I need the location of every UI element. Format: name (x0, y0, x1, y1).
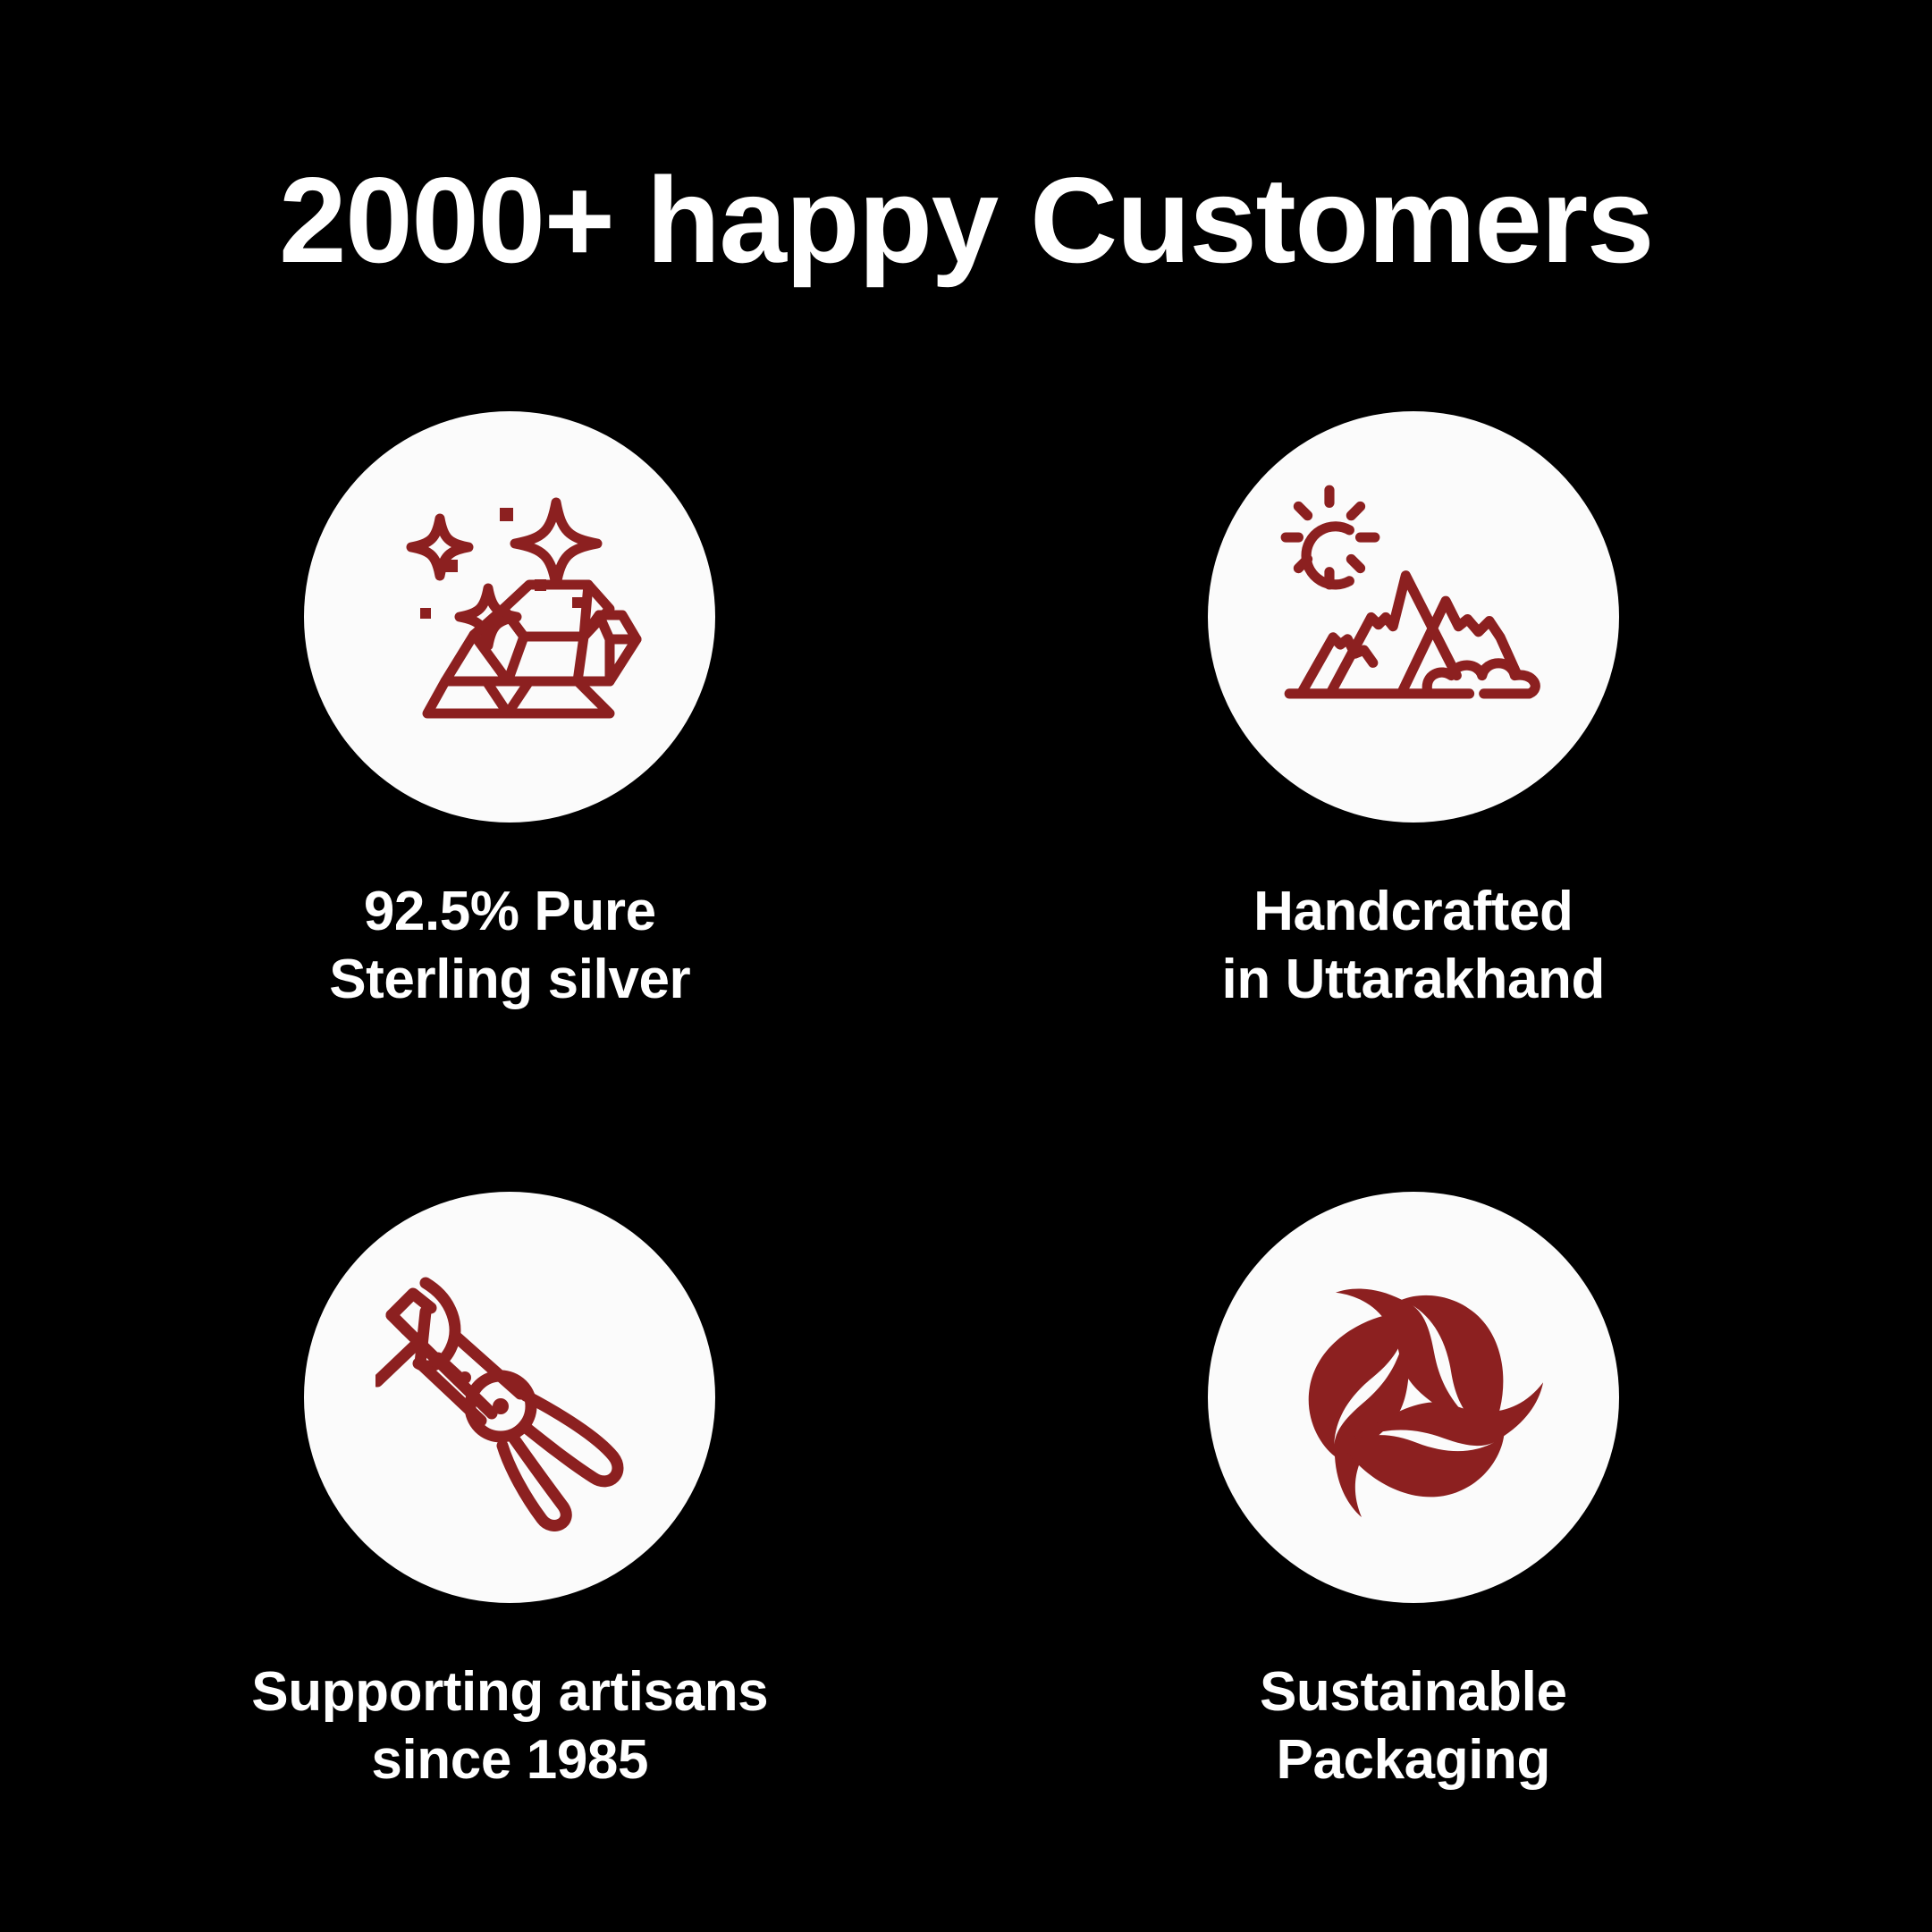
silver-bars-icon (375, 483, 644, 751)
feature-icon-badge (1208, 1192, 1619, 1603)
feature-grid: 92.5% Pure Sterling silver (0, 411, 1932, 1794)
mountains-sun-icon (1277, 481, 1549, 754)
feature-caption: Sustainable Packaging (1260, 1658, 1567, 1793)
promo-banner: 2000+ happy Customers (0, 0, 1932, 1932)
pliers-icon (375, 1263, 644, 1531)
feature-caption: Supporting artisans since 1985 (251, 1658, 768, 1793)
feature-icon-badge (1208, 411, 1619, 823)
feature-icon-badge (304, 1192, 715, 1603)
feature-item-silver: 92.5% Pure Sterling silver (0, 411, 966, 1013)
feature-item-packaging: Sustainable Packaging (966, 1192, 1932, 1793)
feature-item-handcrafted: Handcrafted in Uttarakhand (966, 411, 1932, 1013)
feature-icon-badge (304, 411, 715, 823)
feature-caption: 92.5% Pure Sterling silver (329, 878, 690, 1013)
three-leaves-icon (1279, 1263, 1548, 1531)
feature-caption: Handcrafted in Uttarakhand (1222, 878, 1605, 1013)
page-title: 2000+ happy Customers (0, 159, 1932, 281)
feature-item-artisans: Supporting artisans since 1985 (0, 1192, 966, 1793)
